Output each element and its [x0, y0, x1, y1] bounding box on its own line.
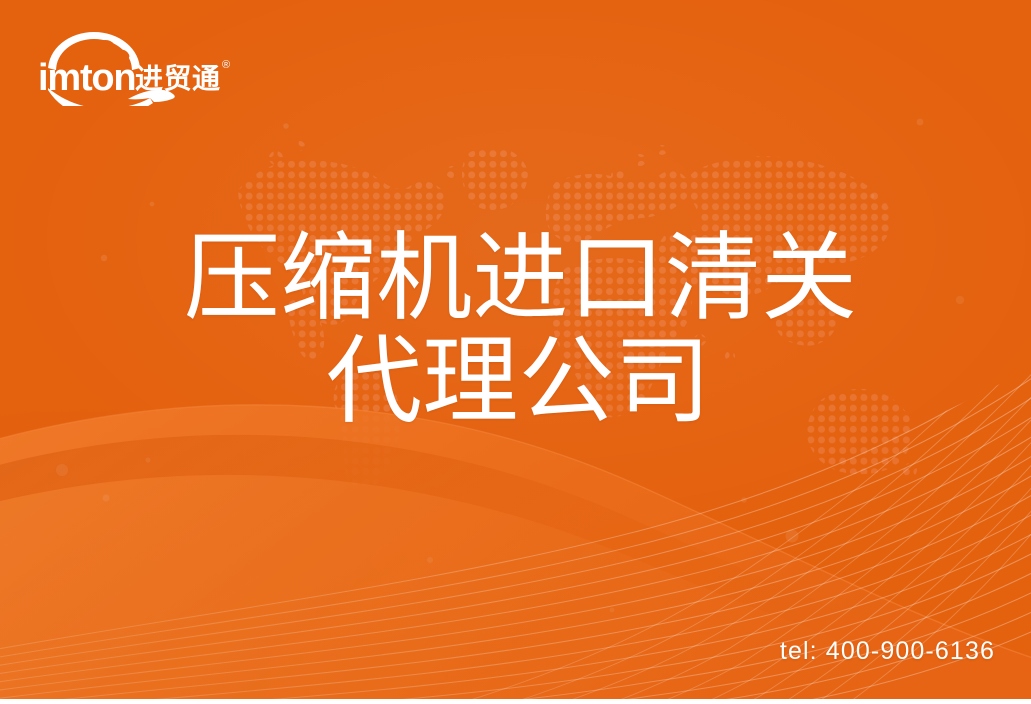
- promo-banner: imton 进贸通 ® 压缩机进口清关 代理公司 tel: 400-900-61…: [0, 0, 1031, 704]
- headline-line-1: 压缩机进口清关: [10, 228, 1031, 331]
- contact-phone[interactable]: tel: 400-900-6136: [780, 637, 995, 666]
- headline-line-2: 代理公司: [6, 331, 1031, 434]
- logo-chinese-name: 进贸通: [135, 63, 221, 94]
- logo-trademark: ®: [222, 59, 230, 71]
- bottom-divider: [0, 699, 1031, 704]
- brand-logo[interactable]: imton 进贸通 ®: [32, 26, 242, 106]
- page-title: 压缩机进口清关 代理公司: [0, 228, 1031, 433]
